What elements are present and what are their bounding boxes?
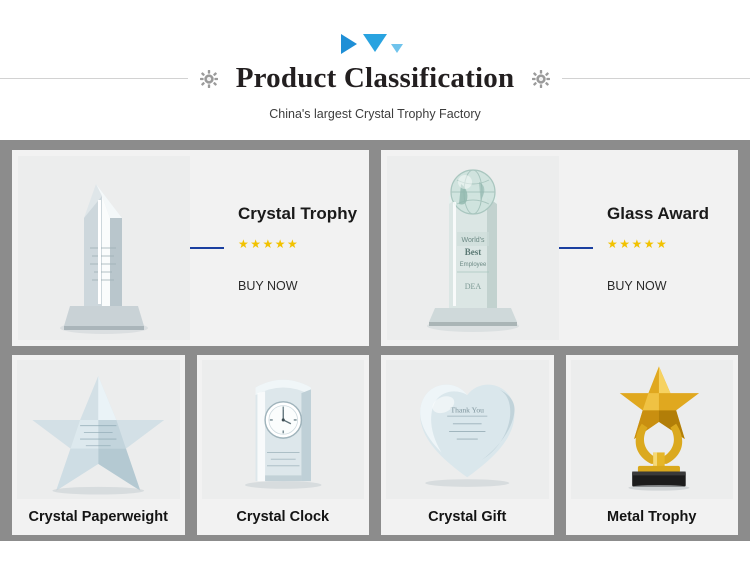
featured-row: Crystal Trophy ★★★★★ BUY NOW [12,150,738,346]
divider-left [0,78,188,79]
crystal-clock-image [202,360,365,499]
triangle-play-logo-icon [339,30,411,56]
page-header: Product Classification [0,0,750,140]
svg-text:Employee: Employee [460,262,487,268]
svg-text:Best: Best [465,247,482,257]
category-card[interactable]: Thank You Crystal Gift [381,355,554,535]
rating-stars: ★★★★★ [607,237,732,251]
buy-now-button[interactable]: BUY NOW [238,279,363,293]
category-label: Crystal Gift [386,499,549,535]
category-card[interactable]: Crystal Clock [197,355,370,535]
crystal-star-paperweight-image [17,360,180,499]
category-label: Crystal Clock [202,499,365,535]
title-row: Product Classification [0,62,750,95]
gear-icon [200,70,218,88]
svg-text:World's: World's [462,237,485,244]
crystal-obelisk-trophy-image [18,156,190,340]
category-row: Crystal Paperweight [12,355,738,535]
product-classification-page: Product Classification [0,0,750,571]
product-name: Glass Award [607,203,732,225]
page-subtitle: China's largest Crystal Trophy Factory [0,107,750,121]
logo-wrap [0,30,750,60]
category-card[interactable]: Crystal Paperweight [12,355,185,535]
category-label: Metal Trophy [571,499,734,535]
category-card[interactable]: Metal Trophy [566,355,739,535]
products-area: Crystal Trophy ★★★★★ BUY NOW [0,140,750,541]
crystal-heart-gift-image: Thank You [386,360,549,499]
gear-icon [532,70,550,88]
product-name: Crystal Trophy [238,203,363,225]
featured-card-info: Crystal Trophy ★★★★★ BUY NOW [190,156,363,340]
buy-now-button[interactable]: BUY NOW [607,279,732,293]
gold-star-metal-trophy-image [571,360,734,499]
featured-card[interactable]: Crystal Trophy ★★★★★ BUY NOW [12,150,369,346]
category-label: Crystal Paperweight [17,499,180,535]
accent-dash [559,247,593,249]
svg-text:Thank You: Thank You [451,405,485,414]
rating-stars: ★★★★★ [238,237,363,251]
page-title: Product Classification [230,62,521,95]
featured-card-info: Glass Award ★★★★★ BUY NOW [559,156,732,340]
featured-card[interactable]: World's Best Employee DEA Glass Award ★★… [381,150,738,346]
svg-text:DEA: DEA [465,282,482,291]
footer-spacer [0,541,750,571]
glass-globe-award-image: World's Best Employee DEA [387,156,559,340]
divider-right [562,78,750,79]
accent-dash [190,247,224,249]
